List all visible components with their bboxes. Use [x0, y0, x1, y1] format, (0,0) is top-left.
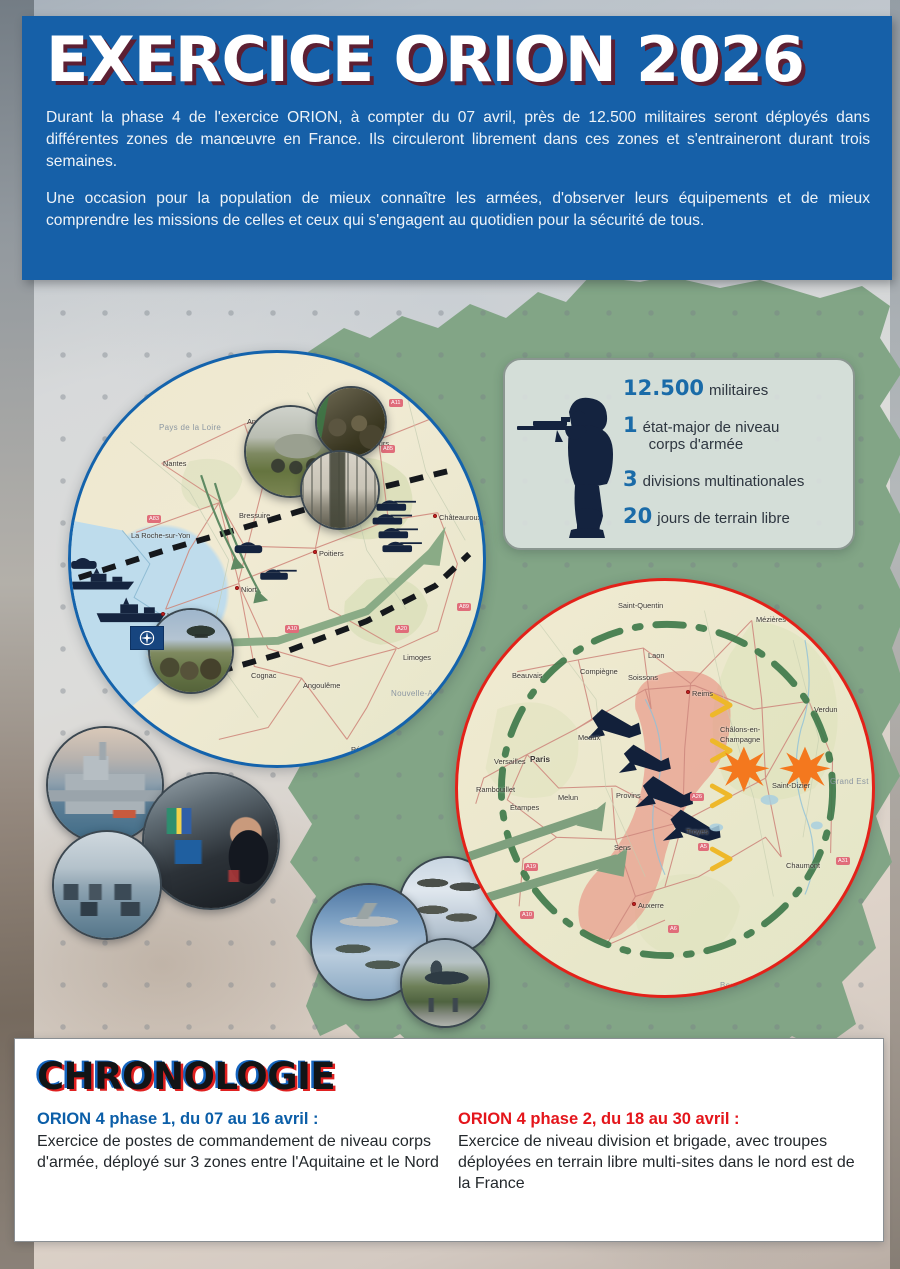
- stat-label: divisions multinationales: [643, 473, 805, 490]
- chronology-phase-heading: ORION 4 phase 1, du 07 au 16 avril :: [37, 1110, 442, 1129]
- chronology-panel: CHRONOLOGIE ORION 4 phase 1, du 07 au 16…: [14, 1038, 884, 1242]
- city-label: Laon: [648, 651, 664, 660]
- city-label: La Roche-sur-Yon: [131, 531, 190, 540]
- road-badge: A20: [395, 625, 409, 633]
- city-label: Versailles: [494, 757, 526, 766]
- city-dot: [686, 690, 690, 694]
- city-label: Chaumont: [786, 861, 820, 870]
- city-label: Reims: [692, 689, 713, 698]
- city-label: Beauvais: [512, 671, 542, 680]
- stats-card: 12.500militaires1état-major de niveaucor…: [503, 358, 855, 550]
- city-label: Niort: [241, 585, 257, 594]
- city-label: Saint-Quentin: [618, 601, 663, 610]
- city-label: Angoulême: [303, 681, 340, 690]
- city-label: Troyes: [686, 827, 708, 836]
- stat-row: 20jours de terrain libre: [623, 504, 843, 528]
- photo-soldiers-formation: [315, 386, 387, 458]
- region-label: Pays de la Loire: [159, 423, 221, 432]
- header-banner: EXERCICE ORION 2026 Durant la phase 4 de…: [22, 16, 892, 280]
- city-label: Compiègne: [580, 667, 618, 676]
- intro-paragraph-2: Une occasion pour la population de mieux…: [46, 188, 870, 232]
- city-label: Auxerre: [638, 901, 664, 910]
- city-label: Châteauroux: [439, 513, 481, 522]
- road-badge: A5: [698, 843, 709, 851]
- road-badge: A19: [524, 863, 538, 871]
- city-label: Limoges: [403, 653, 431, 662]
- stat-label: état-major de niveaucorps d'armée: [643, 419, 780, 454]
- stat-row: 12.500militaires: [623, 376, 843, 400]
- city-label: Rambouillet: [476, 785, 515, 794]
- region-label: Nouvelle-Aquitaine: [391, 689, 464, 698]
- stat-number: 12.500: [623, 376, 704, 400]
- road-badge: A31: [836, 857, 850, 865]
- region-label: la Loire: [347, 357, 376, 366]
- road-badge: A26: [690, 793, 704, 801]
- road-badge: A10: [285, 625, 299, 633]
- city-label: Bressuire: [239, 511, 270, 520]
- city-label: Cognac: [251, 671, 276, 680]
- stat-number: 3: [623, 467, 638, 491]
- region-label: Grand Est: [830, 777, 869, 786]
- city-label: Paris: [530, 755, 550, 764]
- stat-label: jours de terrain libre: [657, 510, 790, 527]
- stats-list: 12.500militaires1état-major de niveaucor…: [623, 376, 843, 541]
- road-badge: A83: [147, 515, 161, 523]
- city-label: Champagne: [720, 735, 760, 744]
- intro-paragraph-1: Durant la phase 4 de l'exercice ORION, à…: [46, 107, 870, 173]
- photo-naval-operations-room: [142, 772, 280, 910]
- stat-row: 3divisions multinationales: [623, 467, 843, 491]
- map-zone-nord-est[interactable]: Saint-QuentinMézièresLaonCompiègneSoisso…: [455, 578, 875, 998]
- chronology-column: ORION 4 phase 2, du 18 au 30 avril :Exer…: [458, 1110, 863, 1194]
- road-badge: A6: [668, 925, 679, 933]
- city-label: Provins: [616, 791, 641, 800]
- city-label: Poitiers: [319, 549, 344, 558]
- photo-helicopter-insertion: [148, 608, 234, 694]
- chronology-phase-heading: ORION 4 phase 2, du 18 au 30 avril :: [458, 1110, 863, 1129]
- city-dot: [632, 902, 636, 906]
- city-label: Périgueux: [351, 745, 384, 754]
- city-label: Sens: [614, 843, 631, 852]
- page-title: EXERCICE ORION 2026: [46, 30, 870, 91]
- stat-label: militaires: [709, 382, 768, 399]
- stat-number: 1: [623, 413, 638, 437]
- soldier-rifle-silhouette: [513, 386, 633, 538]
- road-badge: A10: [520, 911, 534, 919]
- city-label: Soissons: [628, 673, 658, 682]
- chronology-phase-body: Exercice de postes de commandement de ni…: [37, 1132, 442, 1174]
- photo-naval-fleet-at-sea: [52, 830, 162, 940]
- nato-flag-icon: [130, 626, 164, 650]
- city-label: Saint-Dizier: [772, 781, 810, 790]
- city-dot: [235, 586, 239, 590]
- city-label: Nantes: [163, 459, 186, 468]
- city-label: Melun: [558, 793, 578, 802]
- chronology-columns: ORION 4 phase 1, du 07 au 16 avril :Exer…: [37, 1110, 863, 1194]
- city-label: Châlons-en-: [720, 725, 760, 734]
- poster-root: EXERCICE ORION 2026 Durant la phase 4 de…: [0, 0, 900, 1269]
- city-label: Étampes: [510, 803, 539, 812]
- chronology-phase-body: Exercice de niveau division et brigade, …: [458, 1132, 863, 1194]
- stat-sublabel: corps d'armée: [643, 436, 780, 453]
- road-badge: A11: [389, 399, 403, 407]
- photo-urban-combat-training: [300, 450, 380, 530]
- stat-number: 20: [623, 504, 652, 528]
- city-label: Verdun: [814, 705, 837, 714]
- region-label: Bourgogne: [720, 981, 762, 990]
- chronology-title: CHRONOLOGIE: [37, 1055, 863, 1098]
- stat-row: 1état-major de niveaucorps d'armée: [623, 413, 843, 454]
- city-dot: [313, 550, 317, 554]
- city-label: Meaux: [578, 733, 600, 742]
- city-dot: [433, 514, 437, 518]
- chronology-column: ORION 4 phase 1, du 07 au 16 avril :Exer…: [37, 1110, 442, 1194]
- city-label: Mézières: [756, 615, 786, 624]
